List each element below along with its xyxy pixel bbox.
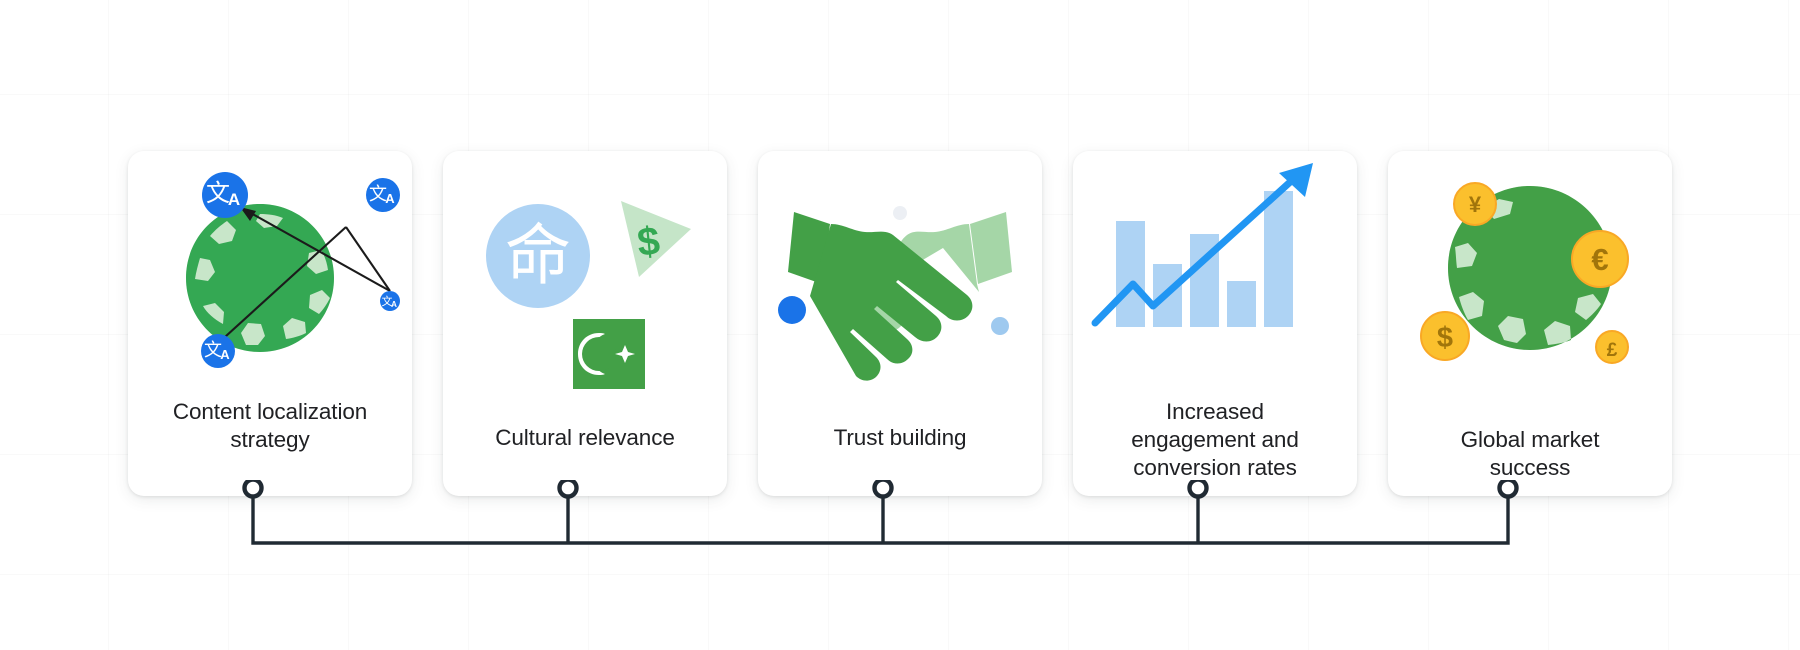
handshake-svg	[758, 151, 1042, 396]
globe-translate-network-icon: 文 A 文 A 文 A	[128, 151, 412, 396]
coin-euro: €	[1572, 231, 1628, 287]
card-label: Cultural relevance	[467, 424, 703, 452]
coin-pound: £	[1596, 331, 1628, 363]
translate-badge-top-left: 文 A	[202, 172, 248, 218]
card-label: Global market success	[1412, 426, 1648, 482]
accent-dot-light-blue	[991, 317, 1009, 335]
accent-dot-blue	[778, 296, 806, 324]
coin-dollar: $	[1421, 312, 1469, 360]
card-increased-engagement[interactable]: Increased engagement and conversion rate…	[1073, 151, 1357, 496]
svg-text:£: £	[1607, 340, 1618, 361]
card-label: Content localization strategy	[152, 398, 388, 454]
globe-translate-network-svg: 文 A 文 A 文 A	[128, 151, 412, 396]
svg-text:A: A	[391, 300, 397, 309]
cards-row: 文 A 文 A 文 A	[128, 151, 1673, 496]
card-label: Increased engagement and conversion rate…	[1097, 398, 1333, 482]
card-label: Trust building	[782, 424, 1018, 452]
svg-text:¥: ¥	[1469, 192, 1482, 217]
svg-text:A: A	[385, 191, 395, 206]
globe-currencies-icon: ¥ € $ £	[1388, 151, 1672, 396]
svg-text:文: 文	[206, 179, 230, 207]
svg-text:文: 文	[204, 340, 222, 361]
handshake-icon	[758, 151, 1042, 396]
globe-currencies-svg: ¥ € $ £	[1388, 151, 1672, 396]
culture-symbols-svg: 命 $	[443, 151, 727, 396]
svg-text:文: 文	[369, 184, 387, 205]
culture-symbols-icon: 命 $	[443, 151, 727, 396]
card-global-market-success[interactable]: ¥ € $ £ Global market succ	[1388, 151, 1672, 496]
connector-rail	[253, 497, 1508, 543]
bar-chart-uptrend-icon	[1073, 151, 1357, 396]
accent-dot-faint	[893, 206, 907, 220]
svg-text:命: 命	[505, 217, 571, 294]
card-content-localization-strategy[interactable]: 文 A 文 A 文 A	[128, 151, 412, 496]
crescent-star-flag	[573, 319, 645, 389]
currency-triangle: $	[621, 201, 691, 277]
svg-text:$: $	[635, 219, 662, 265]
svg-text:€: €	[1591, 242, 1608, 277]
translate-badge-top-right: 文 A	[366, 178, 400, 212]
translate-badge-mid-right: 文 A	[380, 291, 400, 311]
infographic-canvas: 文 A 文 A 文 A	[0, 0, 1800, 650]
svg-text:$: $	[1437, 322, 1453, 354]
bar-chart-uptrend-svg	[1073, 151, 1357, 396]
card-trust-building[interactable]: Trust building	[758, 151, 1042, 496]
svg-text:A: A	[228, 190, 240, 209]
translate-badge-bottom-left: 文 A	[201, 334, 235, 368]
card-cultural-relevance[interactable]: 命 $ Cultural relevance	[443, 151, 727, 496]
svg-text:A: A	[220, 347, 230, 362]
chinese-character-badge: 命	[486, 204, 590, 308]
coin-yen: ¥	[1454, 183, 1496, 225]
